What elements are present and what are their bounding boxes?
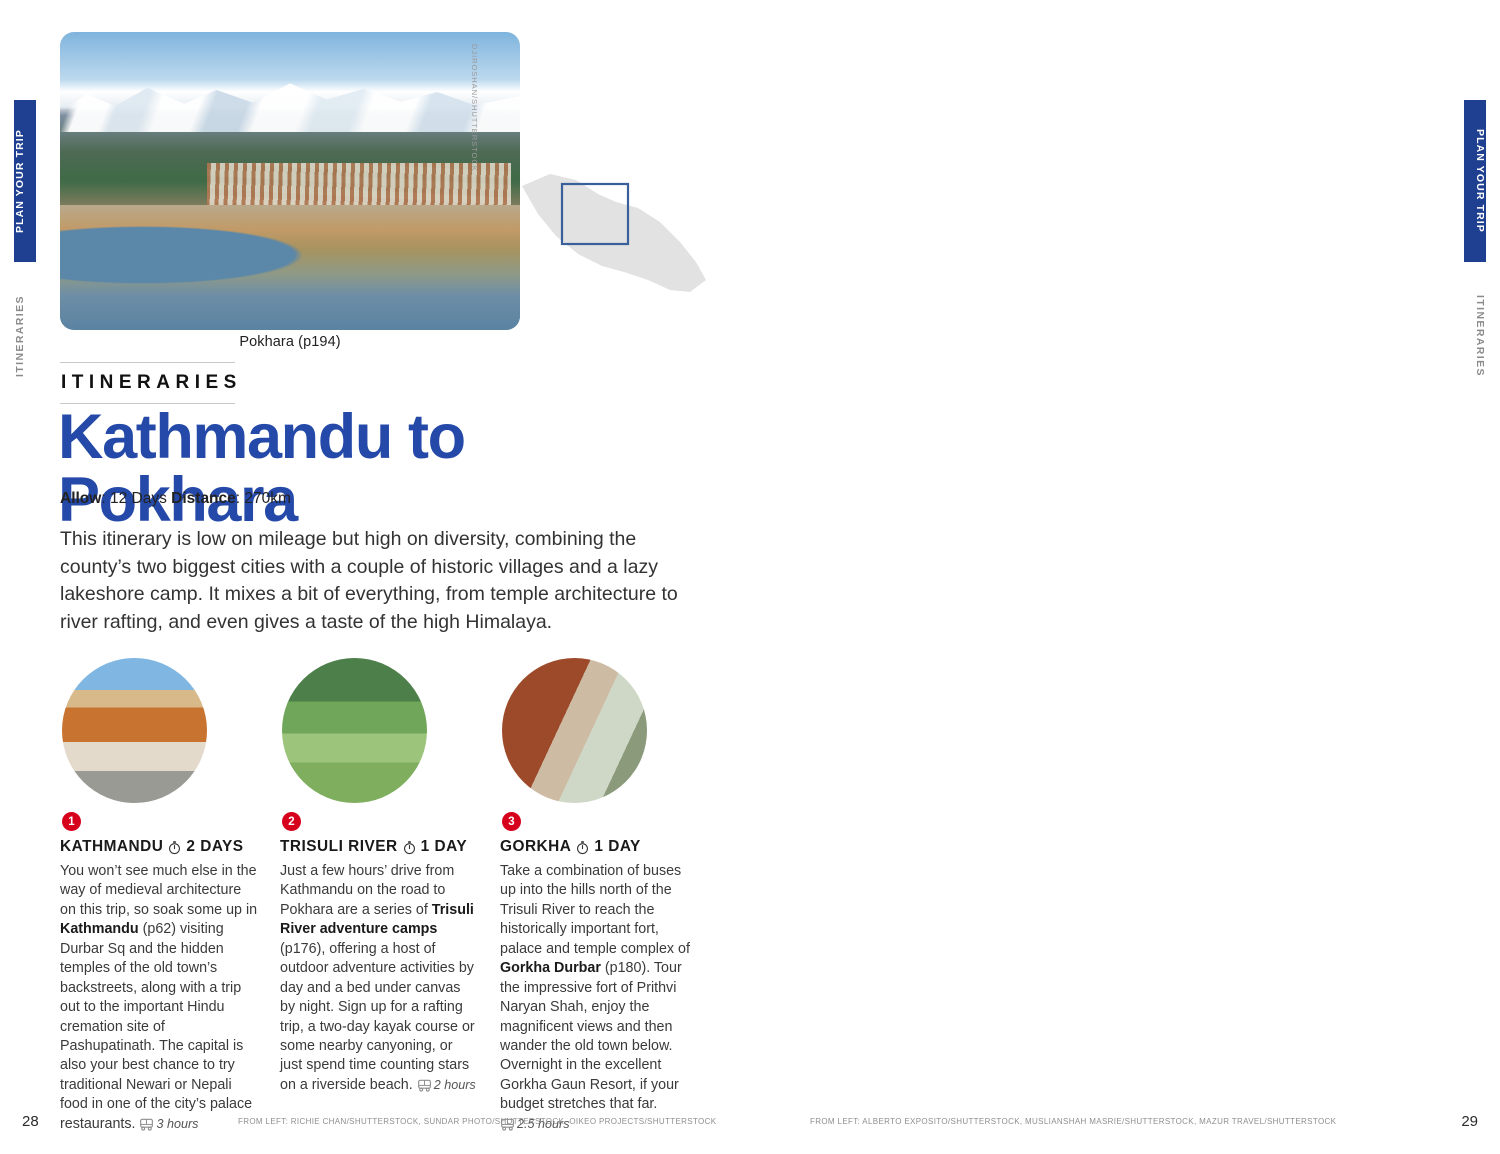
allow-label: Allow (60, 490, 101, 507)
kicker-block: ITINERARIES (60, 362, 250, 404)
hero-photo-credit: DJIROSHAN/SHUTTERSTOCK (470, 44, 479, 172)
stopwatch-icon (575, 840, 590, 855)
entry-place-name: KATHMANDU (60, 838, 163, 856)
itinerary-entry-kathmandu: 1KATHMANDU 2 DAYSYou won’t see much else… (60, 658, 258, 1134)
side-tab-chapter-label-right: ITINERARIES (1464, 276, 1486, 396)
trip-meta: Allow: 12 Days Distance: 270km (60, 490, 700, 508)
distance-value: 270km (244, 490, 291, 507)
locator-map (520, 150, 710, 320)
entry-title: GORKHA 1 DAY (500, 838, 698, 856)
entry-place-name: GORKHA (500, 838, 571, 856)
entry-travel-time: 3 hours (139, 1117, 198, 1131)
folio-right: 29 (1461, 1113, 1478, 1130)
stopwatch-icon (167, 840, 182, 855)
entry-duration: 1 DAY (421, 838, 467, 856)
entry-thumbnail (282, 658, 427, 803)
side-tab-section-label-right: PLAN YOUR TRIP (1464, 108, 1486, 254)
entry-number-badge: 1 (62, 812, 81, 831)
kicker-label: ITINERARIES (60, 363, 250, 403)
itinerary-entry-trisuli-river: 2TRISULI RIVER 1 DAYJust a few hours’ dr… (280, 658, 478, 1134)
hero-caption: Pokhara (p194) (60, 334, 520, 350)
page-right: PLAN YOUR TRIP ITINERARIES (750, 0, 1500, 1154)
itinerary-entry-gorkha: 3GORKHA 1 DAYTake a combination of buses… (500, 658, 698, 1134)
nepal-outline (522, 174, 706, 292)
allow-value: 12 Days (110, 490, 167, 507)
page-left: PLAN YOUR TRIP ITINERARIES DJIROSHAN/SHU… (0, 0, 750, 1154)
magazine-spread: PLAN YOUR TRIP ITINERARIES DJIROSHAN/SHU… (0, 0, 1500, 1154)
entry-list-left: 1KATHMANDU 2 DAYSYou won’t see much else… (60, 658, 700, 1134)
hero-photo-pokhara (60, 32, 520, 330)
entry-place-name: TRISULI RIVER (280, 838, 398, 856)
entry-duration: 1 DAY (594, 838, 640, 856)
stopwatch-icon (402, 840, 417, 855)
entry-travel-time: 2 hours (417, 1078, 476, 1092)
page-title: Kathmandu to Pokhara (58, 406, 718, 532)
distance-label: Distance (171, 490, 236, 507)
entry-title: TRISULI RIVER 1 DAY (280, 838, 478, 856)
side-tab-left: PLAN YOUR TRIP ITINERARIES (14, 0, 36, 1154)
photo-credits-left: FROM LEFT: RICHIE CHAN/SHUTTERSTOCK, SUN… (238, 1117, 716, 1126)
entry-thumbnail (502, 658, 647, 803)
entry-title: KATHMANDU 2 DAYS (60, 838, 258, 856)
entry-thumbnail (62, 658, 207, 803)
entry-description: Take a combination of buses up into the … (500, 862, 698, 1134)
bus-icon (417, 1079, 432, 1092)
entry-description: You won’t see much else in the way of me… (60, 862, 258, 1134)
photo-credits-right: FROM LEFT: ALBERTO EXPOSITO/SHUTTERSTOCK… (810, 1117, 1336, 1126)
intro-paragraph: This itinerary is low on mileage but hig… (60, 526, 700, 637)
hero-image (60, 32, 520, 330)
allow-sep: : (101, 490, 110, 507)
bus-icon (139, 1118, 154, 1131)
side-tab-chapter-label: ITINERARIES (14, 276, 36, 396)
hero-photo-townscape (207, 163, 511, 312)
entry-number-badge: 2 (282, 812, 301, 831)
entry-description: Just a few hours’ drive from Kathmandu o… (280, 862, 478, 1095)
side-tab-section-label: PLAN YOUR TRIP (14, 108, 36, 254)
folio-left: 28 (22, 1113, 39, 1130)
entry-number-badge: 3 (502, 812, 521, 831)
entry-duration: 2 DAYS (186, 838, 243, 856)
side-tab-right: PLAN YOUR TRIP ITINERARIES (1464, 0, 1486, 1154)
